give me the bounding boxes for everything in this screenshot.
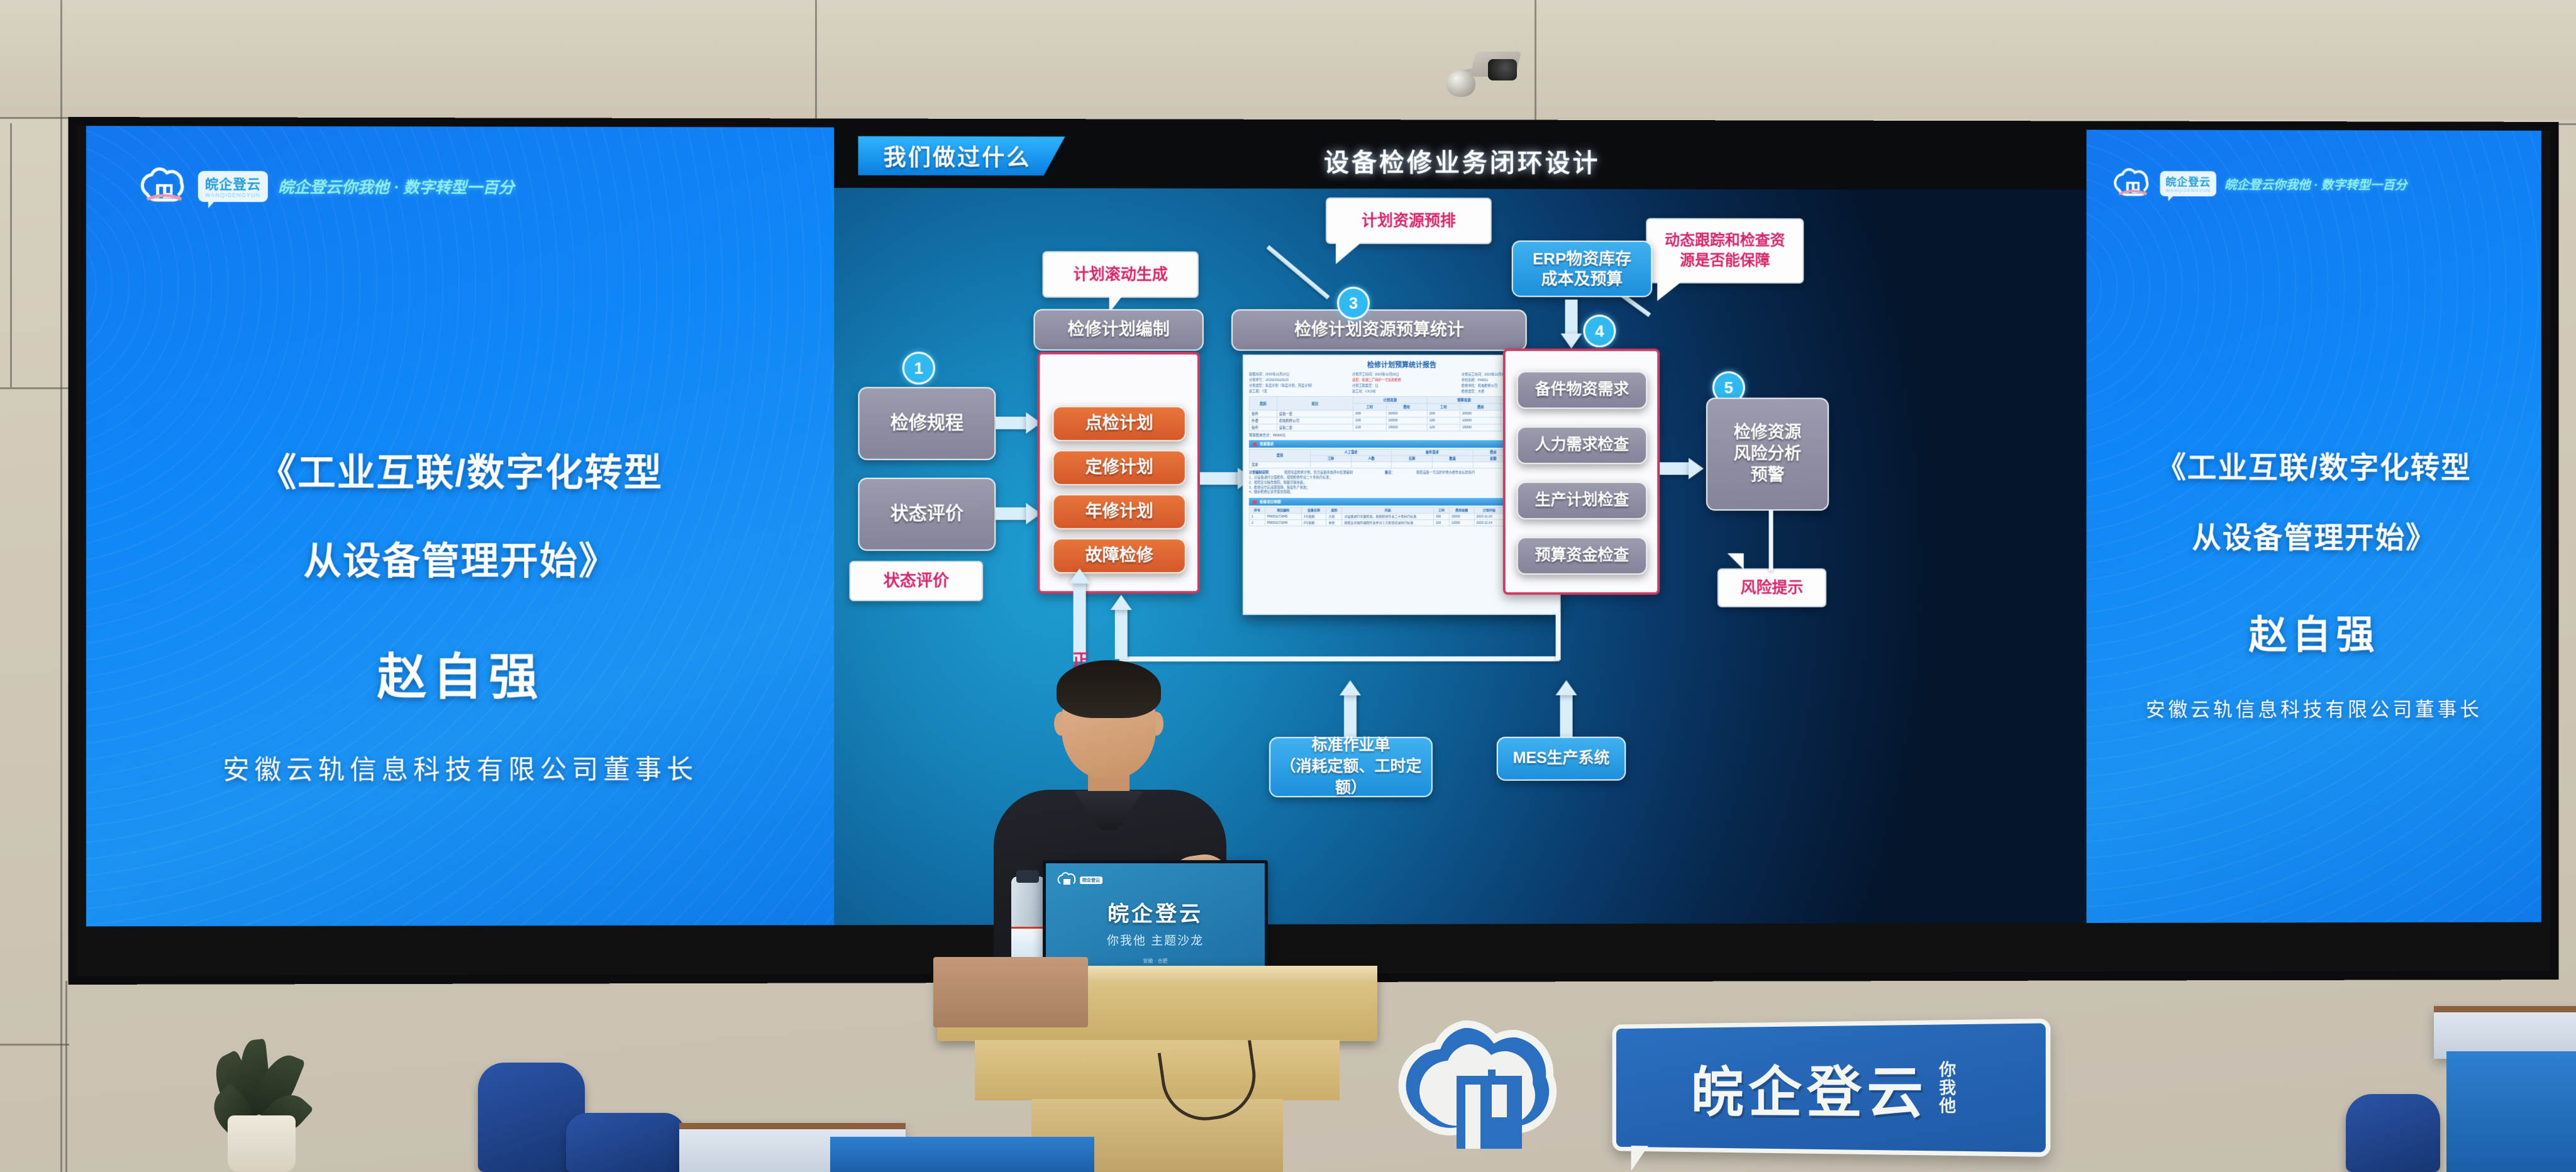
feedback-bus-line: [1119, 656, 1560, 661]
floor-sign-main-text: 皖企登云: [1691, 1047, 1928, 1129]
appshot-group: 预算资源: [1427, 397, 1501, 404]
appshot-meta: 总工时：C3小时: [1352, 389, 1453, 394]
appshot-meta: 计划完工时间：2023年11月30日: [1462, 372, 1508, 377]
arrow-mes-up: [1556, 680, 1577, 738]
cell: 15000: [1460, 424, 1501, 431]
appshot-note2-value: 按照设备一号高炉炉体大修作业标准执行: [1416, 470, 1475, 475]
brand-tag-main: 皖企登云: [205, 174, 261, 192]
laptop-brand-text: 皖企登云: [1108, 897, 1203, 927]
wanqi-cloud-logo-icon: [1396, 1009, 1585, 1166]
appshot-col: 名称: [1392, 456, 1433, 462]
step-badge-4: 4: [1583, 314, 1616, 347]
slide-title: 设备检修业务闭环设计: [834, 141, 2086, 180]
node-erp-inventory: ERP物资库存 成本及预算: [1512, 240, 1652, 297]
brand-tag-sub: WANQIDENGYUN: [205, 192, 261, 198]
node-standard-work-sheet: 标准作业单 （消耗定额、工时定额）: [1269, 737, 1433, 797]
wall-tile-seam: [1535, 0, 1536, 123]
appshot-note-value: 按照年度检修计划，结合设备状态评价结果编制: [1284, 470, 1379, 475]
appshot-col: 人数: [1351, 456, 1392, 462]
cell: 10000: [1460, 417, 1501, 424]
left-title-panel: 皖企登云 WANQIDENGYUN 皖企登云你我他 · 数字转型一百分 《工业互…: [86, 126, 834, 926]
laptop-logo-tag: 皖企登云: [1080, 876, 1102, 884]
arrow-regulation-to-plan: [996, 412, 1041, 434]
cell: 中修: [1326, 520, 1342, 526]
brand-tag-right: 皖企登云 WANQIDENGYUN: [2160, 171, 2216, 196]
wanqi-cloud-logo-icon: [2114, 167, 2151, 199]
wanqi-cloud-logo-icon: [1057, 872, 1076, 888]
cell: 设备二套: [1277, 424, 1353, 431]
appshot-col: 费用: [1386, 404, 1427, 411]
appshot-col: 类别: [1326, 507, 1342, 514]
step-badge-1: 1: [902, 351, 935, 384]
appshot-meta: 项目：炼钢二厂转炉一号氧枪检修: [1352, 378, 1453, 382]
appshot-col: 设备名称: [1301, 507, 1326, 514]
brand-slogan-right: 皖企登云你我他 · 数字转型一百分: [2224, 175, 2407, 193]
cell: 12000: [1449, 520, 1474, 526]
appshot-meta: 计划类型：年度计划（年度计划、月度计划）: [1249, 384, 1343, 388]
section-marker-icon: [1253, 500, 1257, 504]
cell: 20000: [1386, 411, 1427, 417]
leader-line-resource: [1266, 245, 1330, 299]
cell: 160: [1433, 514, 1449, 520]
floor-sign-plate: 皖企登云 你我他: [1613, 1019, 2051, 1157]
right-title-panel: 皖企登云 WANQIDENGYUN 皖企登云你我他 · 数字转型一百分 《工业互…: [2087, 130, 2541, 923]
appshot-col: 工时: [1427, 404, 1460, 411]
brand-slogan-left: 皖企登云你我他 · 数字转型一百分: [278, 175, 514, 198]
appshot-col: 项目: [1277, 396, 1353, 410]
appshot-meta: 计划单号：JX20231110123: [1249, 378, 1343, 382]
wall-tile-seam: [0, 387, 75, 389]
cell: 按照安全操作规程作业并对工艺检查记录执行标准: [1342, 520, 1433, 526]
laptop-subtitle: 你我他 主题沙龙: [1107, 931, 1204, 948]
appshot-col: 数量: [1432, 456, 1473, 462]
node-risk-analysis: 检修资源 风险分析 预警: [1706, 397, 1829, 511]
node-mes-system: MES生产系统: [1497, 737, 1626, 781]
appshot-col: 费用金额: [1449, 507, 1474, 514]
security-camera-icon: [1440, 38, 1516, 94]
appshot-meta: 计划开工时间：2023年11月20日: [1352, 372, 1453, 377]
callout-condition-assessment: 状态评价: [849, 561, 983, 601]
appshot-meta: 计划工期类型：日: [1352, 384, 1453, 388]
audience-table-skirt: [830, 1137, 1094, 1172]
wanqi-cloud-logo-icon: [141, 167, 188, 206]
node-budget-statistics: 检修计划资源预算统计: [1231, 309, 1527, 351]
cell: 备件: [1249, 410, 1277, 417]
brand-tag-sub: WANQIDENGYUN: [2165, 188, 2211, 193]
appshot-col: 计划开始: [1474, 507, 1504, 514]
node-check-item-2: 生产计划检查: [1517, 482, 1647, 519]
cell: PM001171846: [1265, 520, 1302, 526]
callout-risk-alert: 风险提示: [1718, 568, 1826, 607]
cell: 备件: [1249, 424, 1277, 431]
section-marker-icon: [1253, 442, 1257, 446]
gooseneck-mic-icon: [1162, 1041, 1257, 1136]
appshot-group: 备件需求: [1392, 450, 1473, 456]
cell: 1号氧枪: [1301, 514, 1326, 520]
appshot-meta: 总工期：7天: [1249, 389, 1343, 394]
cell: 120: [1427, 424, 1460, 431]
appshot-col: 类别: [1249, 449, 1310, 462]
appshot-meta: 单位名称：PM001: [1462, 378, 1488, 382]
cell: 10000: [1386, 417, 1427, 424]
laptop-logo: 皖企登云: [1057, 872, 1102, 888]
appshot-note-label: 计划编制说明：: [1249, 470, 1278, 475]
cell: 大修: [1326, 514, 1342, 520]
cell: 200: [1353, 411, 1386, 417]
brand-tag-main: 皖企登云: [2165, 174, 2211, 189]
appshot-col: 类别: [1249, 396, 1277, 410]
callout-plan-rolling: 计划滚动生成: [1042, 251, 1198, 297]
appshot-group: 计划资源: [1353, 397, 1427, 404]
callout-dynamic-tracking: 动态跟踪和检查资 源是否能保障: [1646, 218, 1804, 284]
cell: 2023-11-24: [1474, 520, 1504, 526]
cell: PM001171845: [1265, 514, 1302, 520]
cell: 2023-11-20: [1474, 514, 1504, 520]
cell: 机电检修公司: [1277, 417, 1353, 424]
right-panel-speaker-name: 赵自强: [2087, 604, 2541, 660]
right-panel-speaker-role: 安徽云轨信息科技有限公司董事长: [2087, 694, 2541, 722]
cell: 15000: [1449, 514, 1474, 520]
floor-sign-side-text: 你我他: [1935, 1061, 1959, 1115]
cell: 15000: [1386, 424, 1427, 431]
cell: 100: [1427, 417, 1460, 424]
panel-brand-left: 皖企登云 WANQIDENGYUN 皖企登云你我他 · 数字转型一百分: [141, 167, 514, 206]
appshot-col: 内容: [1342, 507, 1433, 514]
cell: 2: [1249, 520, 1265, 526]
cell: 设备一套: [1277, 410, 1353, 417]
node-maintenance-regulation: 检修规程: [858, 387, 996, 460]
arrow-std-sheet-up: [1340, 680, 1361, 738]
node-plan-item-1: 定修计划: [1052, 450, 1185, 485]
appshot-col: 序号: [1249, 507, 1265, 514]
floor-standing-logo-sign: 皖企登云 你我他: [1396, 1003, 2057, 1172]
appshot-note2-label: 备注：: [1385, 470, 1410, 475]
wall-tile-seam: [815, 0, 817, 123]
side-table-skirt: [2446, 1051, 2576, 1172]
potted-plant: [208, 1031, 314, 1172]
node-plan-item-0: 点检计划: [1052, 406, 1185, 441]
side-chair: [2346, 1094, 2440, 1172]
node-condition-assessment: 状态评价: [858, 478, 996, 551]
appshot-meta: 提报时间：2023年11月10日: [1249, 372, 1343, 377]
cell: 100: [1353, 417, 1386, 424]
node-check-item-1: 人力需求检查: [1517, 426, 1647, 464]
node-check-item-3: 预算资金检查: [1517, 537, 1647, 575]
callout-resource-prearrange: 计划资源预排: [1326, 197, 1492, 244]
node-plan-item-2: 年修计划: [1052, 494, 1185, 529]
left-panel-title-line1: 《工业互联/数字化转型: [86, 442, 834, 497]
led-video-wall: 皖企登云 WANQIDENGYUN 皖企登云你我他 · 数字转型一百分 《工业互…: [69, 117, 2559, 985]
node-plan-compile: 检修计划编制: [1033, 309, 1203, 350]
brand-tag-left: 皖企登云 WANQIDENGYUN: [198, 170, 268, 201]
appshot-col: 项目编码: [1265, 507, 1302, 514]
audience-chair: [566, 1113, 686, 1172]
ceiling-band: [0, 0, 2576, 119]
cell: 2号氧枪: [1301, 520, 1326, 526]
appshot-col: 工时: [1353, 404, 1386, 411]
left-panel-speaker-role: 安徽云轨信息科技有限公司董事长: [86, 748, 834, 787]
cell: 120: [1353, 424, 1386, 431]
appshot-col: 费用: [1460, 404, 1501, 411]
cell: 外委: [1249, 417, 1277, 424]
arrow-assessment-to-plan: [996, 503, 1041, 524]
appshot-col: 工时: [1433, 507, 1449, 514]
appshot-meta: 检修单位：机电检修公司: [1462, 384, 1497, 388]
cell: 1: [1249, 514, 1265, 520]
screenshot-root: 皖企登云 WANQIDENGYUN 皖企登云你我他 · 数字转型一百分 《工业互…: [0, 0, 2576, 1172]
left-panel-speaker-name: 赵自强: [86, 638, 834, 709]
right-panel-title-line1: 《工业互联/数字化转型: [2087, 443, 2541, 487]
arrow-erp-down: [1561, 299, 1582, 348]
cell: 200: [1427, 411, 1460, 417]
cell: 120: [1433, 520, 1449, 526]
feedback-riser: [1556, 612, 1561, 660]
wall-tile-seam: [60, 0, 62, 1172]
wall-tile-seam: [0, 1044, 69, 1046]
appshot-group: 人工需求: [1311, 449, 1392, 455]
cell: 20000: [1460, 411, 1501, 417]
connector-risk-to-alert: [1768, 511, 1773, 571]
panel-brand-right: 皖企登云 WANQIDENGYUN 皖企登云你我他 · 数字转型一百分: [2114, 167, 2407, 199]
right-panel-title-line2: 从设备管理开始》: [2087, 513, 2541, 556]
left-panel-title-line2: 从设备管理开始》: [86, 531, 834, 585]
cell: 对设备进行全面检查，按照检修作业二十条执行标准: [1342, 514, 1433, 520]
wall-tile-seam: [10, 123, 12, 387]
arrow-check-to-risk: [1660, 458, 1704, 479]
appshot-col: 工种: [1311, 455, 1352, 462]
cell: 需求: [1249, 462, 1310, 468]
wall-tile-seam: [65, 981, 67, 1172]
node-check-item-0: 备件物资需求: [1517, 371, 1647, 409]
appshot-meta: 检修类型：大修: [1462, 389, 1484, 394]
step-badge-3: 3: [1337, 287, 1370, 319]
